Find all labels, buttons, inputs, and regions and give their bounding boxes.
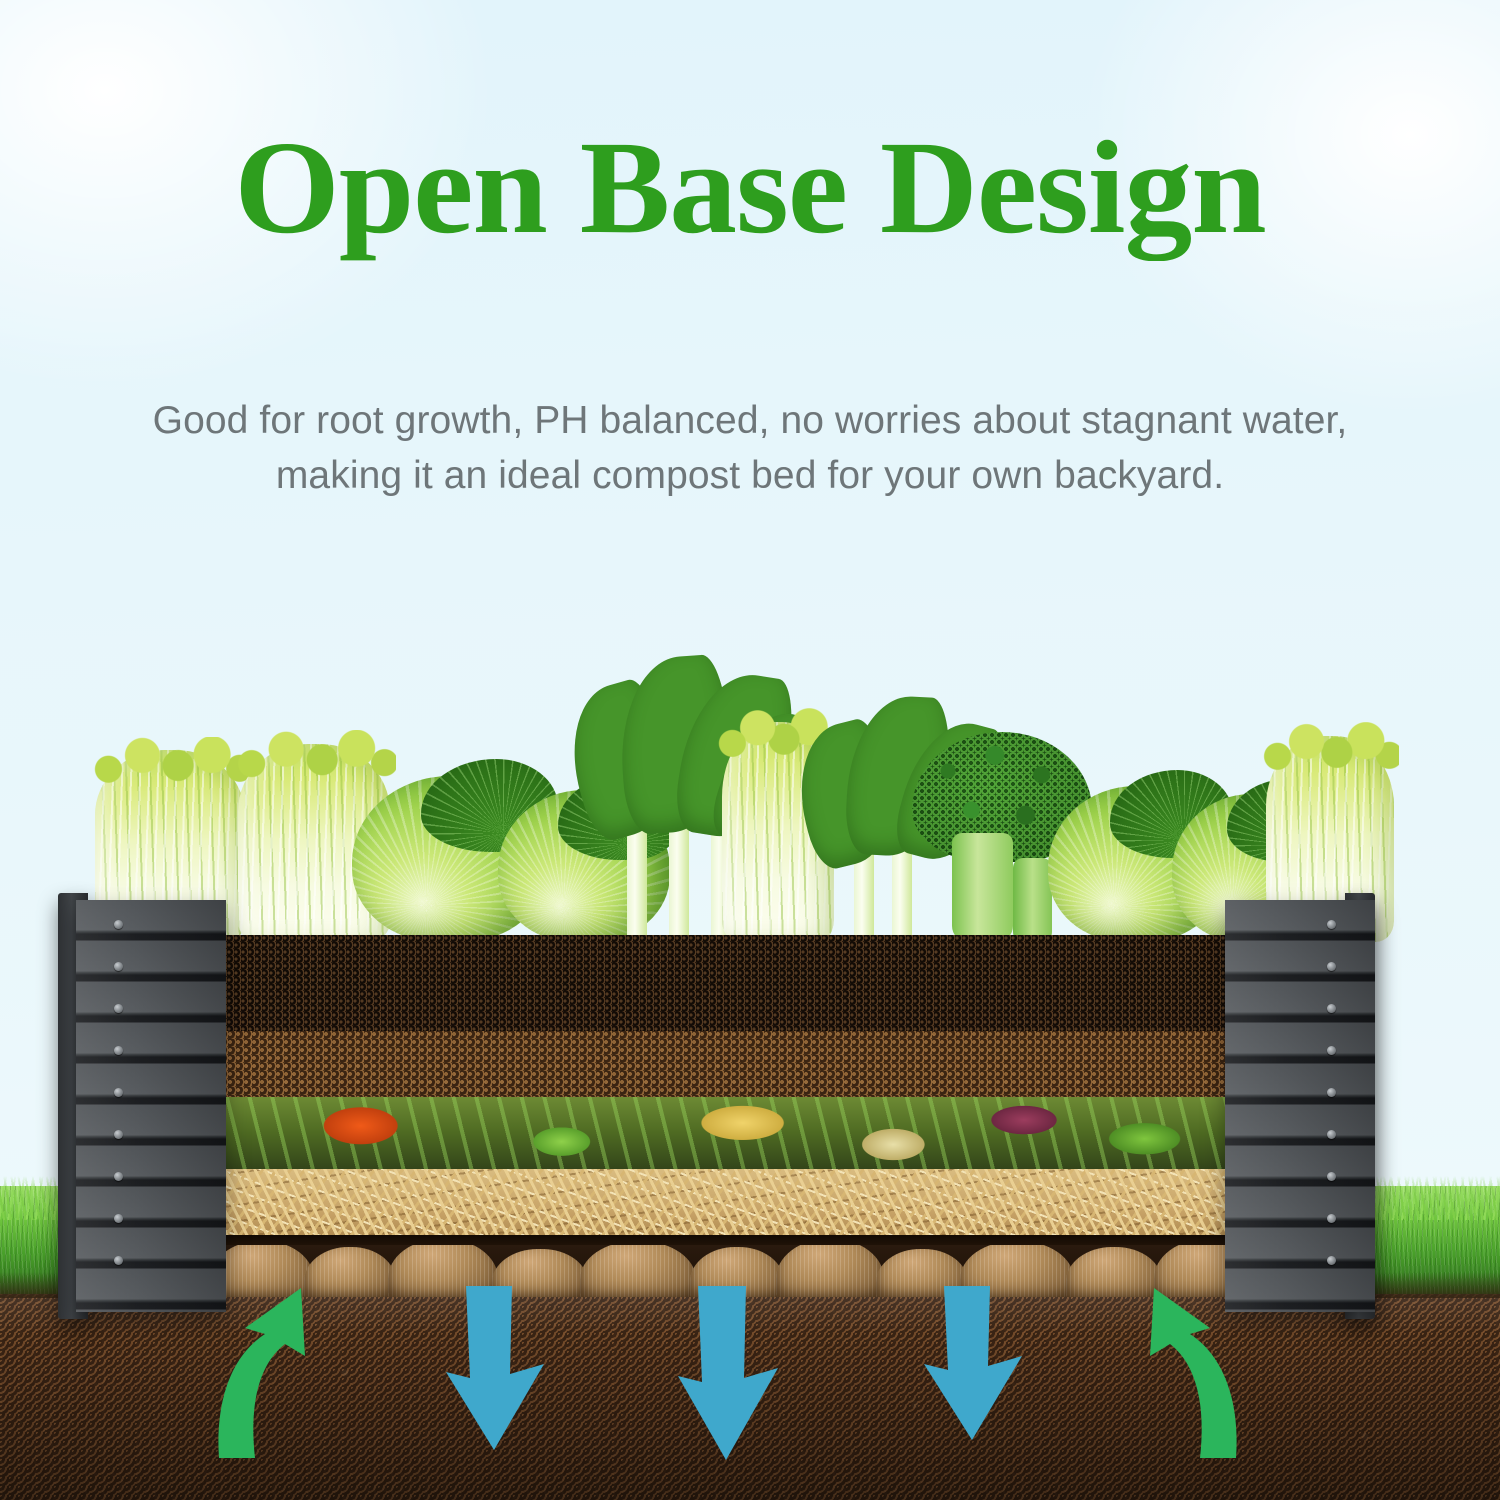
layer-topsoil [220, 935, 1225, 1031]
subtitle-line-1: Good for root growth, PH balanced, no wo… [153, 399, 1348, 442]
cabbage-crown [89, 737, 251, 783]
wood-log [776, 1245, 884, 1297]
panel-screw [114, 962, 123, 971]
panel-screw [1327, 1256, 1336, 1265]
panel-screw [114, 1004, 123, 1013]
page-title: Open Base Design [0, 120, 1500, 256]
panel-screw [1327, 1046, 1336, 1055]
panel-screw [1327, 1214, 1336, 1223]
panel-screw [1327, 920, 1336, 929]
vegetable-row [0, 630, 1500, 942]
cabbage-crown [232, 730, 396, 778]
arrow-drainage-down-3 [920, 1286, 1040, 1446]
panel-sheen [1225, 900, 1375, 1312]
infographic-canvas: Open Base Design Good for root growth, P… [0, 0, 1500, 1500]
metal-panel-right [1225, 900, 1375, 1312]
layer-food-scraps [220, 1097, 1225, 1169]
arrow-drainage-down-1 [440, 1286, 560, 1456]
panel-screw [114, 1214, 123, 1223]
metal-panel-left [76, 900, 226, 1312]
arrow-airflow-in-right [1100, 1282, 1250, 1462]
panel-screw [114, 920, 123, 929]
panel-screw [1327, 1088, 1336, 1097]
panel-screw [114, 1130, 123, 1139]
layer-compost [220, 1031, 1225, 1097]
cabbage-crown [1261, 722, 1399, 771]
panel-screw [1327, 1004, 1336, 1013]
panel-screw [114, 1046, 123, 1055]
panel-screw [114, 1088, 123, 1097]
panel-screw [1327, 962, 1336, 971]
layer-straw [220, 1169, 1225, 1245]
broccoli-stalk [952, 833, 1013, 942]
subtitle-line-2: making it an ideal compost bed for your … [276, 454, 1224, 497]
soil-cross-section [220, 935, 1225, 1245]
panel-screw [114, 1256, 123, 1265]
panel-screw [1327, 1130, 1336, 1139]
panel-screw [1327, 1172, 1336, 1181]
arrow-drainage-down-2 [672, 1286, 792, 1466]
panel-sheen [76, 900, 226, 1312]
broccoli-stalk [1013, 858, 1053, 942]
arrow-airflow-in-left [205, 1282, 355, 1462]
panel-screw [114, 1172, 123, 1181]
page-subtitle: Good for root growth, PH balanced, no wo… [55, 393, 1445, 504]
